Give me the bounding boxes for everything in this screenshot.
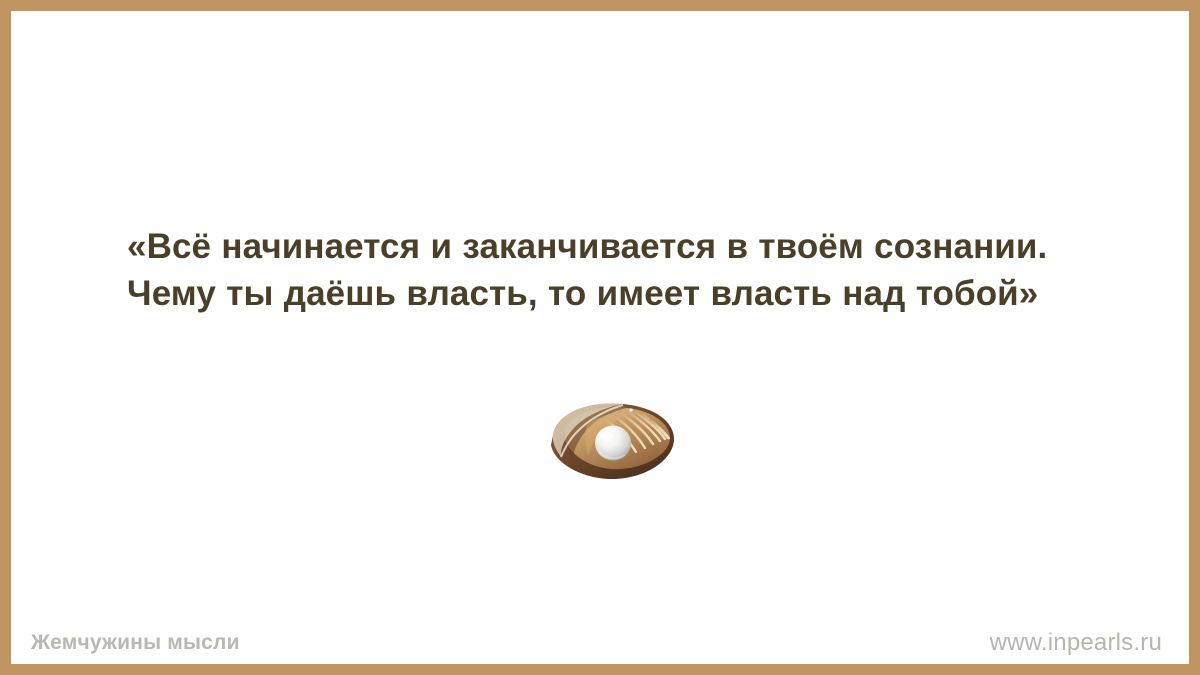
quote-block: «Всё начинается и заканчивается в твоём … (127, 223, 1067, 317)
site-url-label: www.inpearls.ru (990, 629, 1162, 657)
site-brand-label: Жемчужины мысли (31, 631, 240, 655)
quote-card: «Всё начинается и заканчивается в твоём … (0, 0, 1200, 675)
oyster-shell-with-pearl-icon (547, 399, 677, 483)
quote-text: «Всё начинается и заканчивается в твоём … (127, 223, 1067, 317)
